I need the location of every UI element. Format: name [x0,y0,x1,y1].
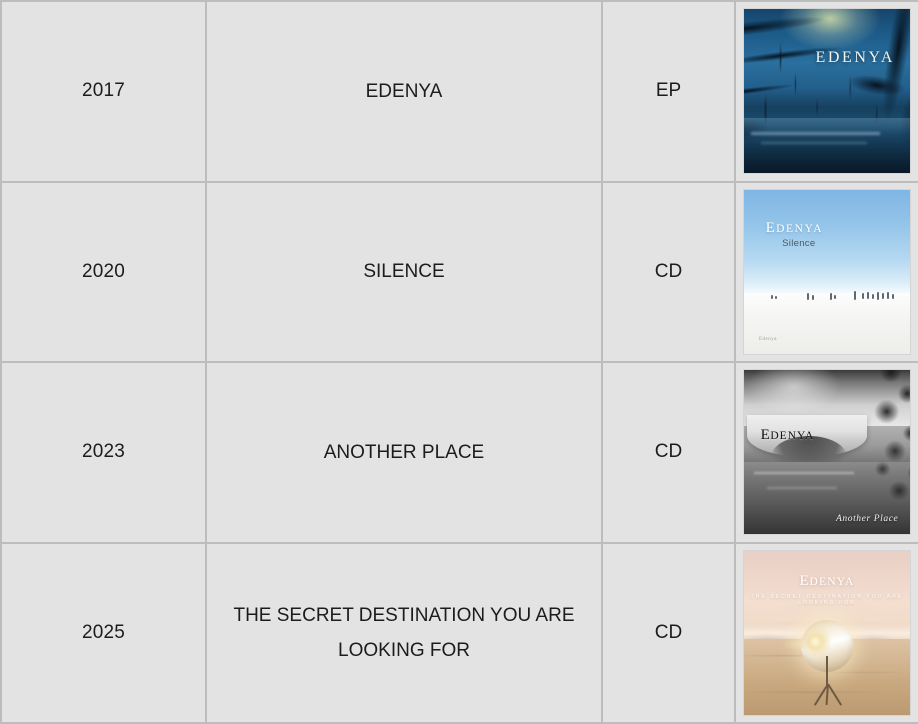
salt-flat-ground [744,293,910,354]
table-row: 2020 SILENCE CD [1,182,918,363]
cover-artist-name-tail: DENYA [809,576,854,588]
release-title: THE SECRET DESTINATION YOU ARE LOOKING F… [206,543,602,724]
album-cover-image-silence: EDENYA Silence Edenya [744,190,910,354]
cover-artist-name: EDENYA [761,428,815,443]
tripod-stem [826,656,828,686]
album-cover-image-secret-destination: EDENYA THE SECRET DESTINATION YOU ARE LO… [744,551,910,715]
cover-artist-name-tail: DENYA [770,430,814,442]
release-cover-cell: EDENYA THE SECRET DESTINATION YOU ARE LO… [735,543,918,724]
distant-figures-icon [744,291,910,300]
release-cover-cell: EDENYA Silence Edenya [735,182,918,363]
cover-artist-name-tail: DENYA [776,223,823,235]
release-title: ANOTHER PLACE [206,362,602,543]
table-row: 2017 EDENYA EP EDENYA [1,1,918,182]
release-cover-cell: EDENYA Another Place [735,362,918,543]
release-format: CD [602,543,735,724]
foliage-branch-icon [827,370,910,534]
lake-water [744,118,910,174]
release-format: CD [602,182,735,363]
album-cover-image-another-place: EDENYA Another Place [744,370,910,534]
release-format: EP [602,1,735,182]
release-year: 2025 [1,543,206,724]
release-title: EDENYA [206,1,602,182]
cover-artist-name: EDENYA [744,574,910,589]
cover-artist-name: EDENYA [815,49,895,67]
discography-table: 2017 EDENYA EP EDENYA 2020 SILENCE C [0,0,918,724]
release-title: SILENCE [206,182,602,363]
release-year: 2023 [1,362,206,543]
cover-subtitle: THE SECRET DESTINATION YOU ARE LOOKING F… [744,594,910,606]
cover-logo-mark: Edenya [759,337,777,342]
album-cover-image-edenya: EDENYA [744,9,910,173]
release-cover-cell: EDENYA [735,1,918,182]
release-year: 2017 [1,1,206,182]
table-row: 2023 ANOTHER PLACE CD EDENYA Another Pla… [1,362,918,543]
cover-artist-name: EDENYA [766,221,824,236]
table-row: 2025 THE SECRET DESTINATION YOU ARE LOOK… [1,543,918,724]
cover-subtitle: Another Place [836,514,898,524]
release-year: 2020 [1,182,206,363]
cover-subtitle: Silence [782,238,815,249]
release-format: CD [602,362,735,543]
